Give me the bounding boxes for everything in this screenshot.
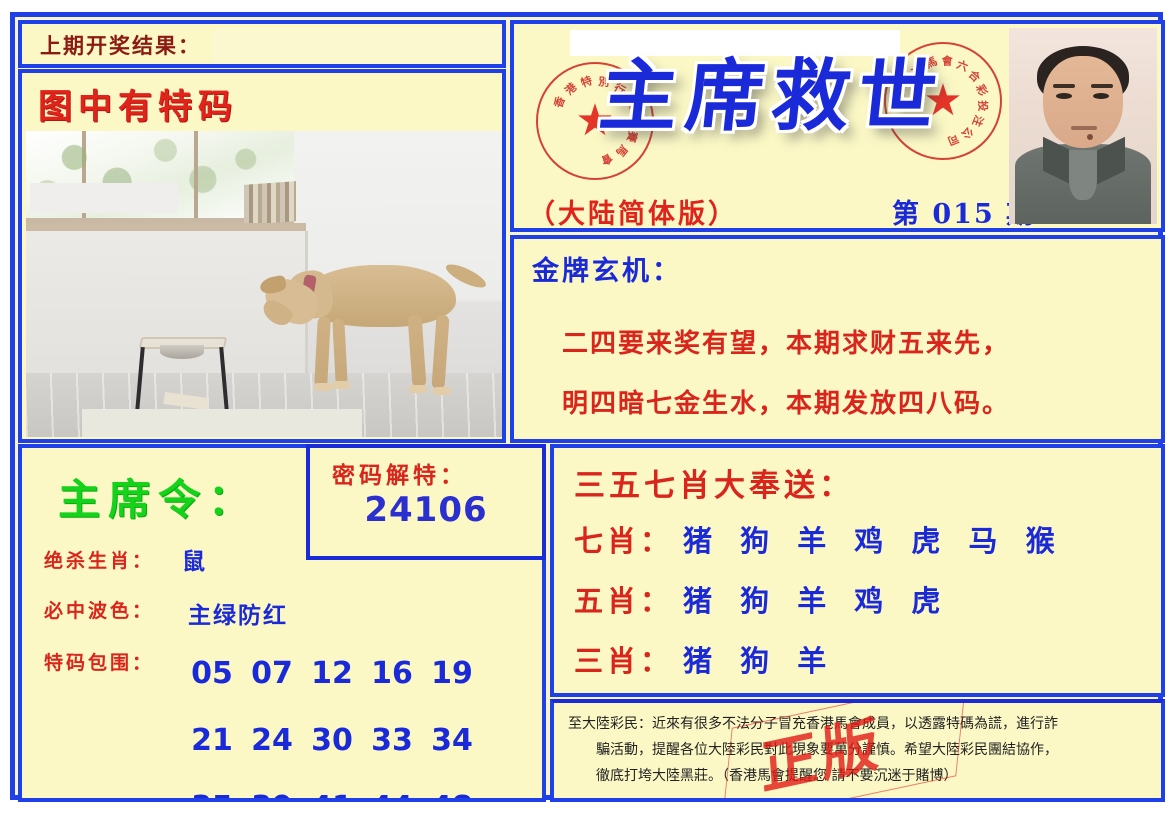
number-cell: 12: [302, 656, 362, 691]
bose-label: 必中波色：: [44, 596, 154, 623]
number-cell: 16: [362, 656, 422, 691]
xiao-row-value: 猪 狗 羊 鸡 虎 马 猴: [683, 524, 1064, 558]
xiao-row: 五肖：猪 狗 羊 鸡 虎: [574, 578, 949, 620]
mima-value: 24106: [310, 490, 542, 530]
number-cell: 33: [362, 723, 422, 758]
poster-root: 上期开奖结果： 图中有特码: [0, 0, 1169, 827]
xiao-row-value: 猪 狗 羊: [683, 644, 835, 678]
banner-subtitle: （大陆简体版）: [528, 192, 738, 231]
notice-text: 至大陸彩民：近來有很多不法分子冒充香港馬會成員，以透露特碼為謊，進行詐 騙活動，…: [568, 711, 1151, 789]
mima-jiete-panel: 密码解特： 24106: [306, 444, 546, 560]
number-cell: 07: [242, 656, 302, 691]
xiao-row-key: 七肖：: [574, 524, 673, 558]
jinpai-line-1: 二四要来奖有望，本期求财五来先，: [562, 323, 1010, 360]
number-cell: 30: [302, 723, 362, 758]
last-draw-label: 上期开奖结果：: [40, 30, 201, 60]
banner-panel: 香港特別行政區賽馬會 ★ 香港馬會六合彩投注公司 ★ 主席救世 （大陆简体版） …: [510, 20, 1165, 232]
number-cell: 39: [242, 790, 302, 802]
mao-portrait: [1009, 28, 1157, 224]
xiao-panel: 三五七肖大奉送： 七肖：猪 狗 羊 鸡 虎 马 猴 五肖：猪 狗 羊 鸡 虎 三…: [550, 444, 1165, 697]
dog: [258, 259, 490, 407]
books: [244, 181, 296, 225]
photo-overlay-bottom: [82, 409, 362, 437]
banner-title: 主席救世: [596, 58, 948, 136]
number-cell: 19: [422, 656, 482, 691]
temabaowei-label: 特码包围：: [44, 648, 154, 675]
xiao-row: 三肖：猪 狗 羊: [574, 638, 835, 680]
jinpai-label: 金牌玄机：: [532, 249, 682, 288]
notice-line-3: 徹底打垮大陸黑莊。（香港馬會提醒您 請不要沉迷于賭博）: [568, 763, 1151, 789]
jinpai-xuanji-panel: 金牌玄机： 二四要来奖有望，本期求财五来先， 明四暗七金生水，本期发放四八码。: [510, 235, 1165, 443]
shengxiao-label: 绝杀生肖：: [44, 546, 154, 573]
number-cell: 21: [182, 723, 242, 758]
number-cell: 35: [182, 790, 242, 802]
number-cell: 41: [302, 790, 362, 802]
xiao-row-value: 猪 狗 羊 鸡 虎: [683, 584, 949, 618]
bose-value: 主绿防红: [188, 596, 288, 630]
xiao-title: 三五七肖大奉送：: [574, 460, 854, 505]
last-draw-blank-area: [212, 28, 502, 66]
photo-title: 图中有特码: [38, 79, 238, 128]
outer-frame: 上期开奖结果： 图中有特码: [10, 12, 1163, 800]
mima-label: 密码解特：: [332, 456, 467, 490]
notice-line-1: 至大陸彩民：近來有很多不法分子冒充香港馬會成員，以透露特碼為謊，進行詐: [568, 711, 1151, 737]
xiao-row-key: 五肖：: [574, 584, 673, 618]
shengxiao-value: 鼠: [182, 542, 207, 576]
number-cell: 44: [362, 790, 422, 802]
number-cell: 34: [422, 723, 482, 758]
xiao-row-key: 三肖：: [574, 644, 673, 678]
number-grid: 050712161921243033343539414448: [182, 656, 482, 802]
last-draw-panel: 上期开奖结果：: [18, 20, 506, 68]
photo-panel: 图中有特码: [18, 69, 506, 443]
number-cell: 05: [182, 656, 242, 691]
number-cell: 48: [422, 790, 482, 802]
jinpai-line-2: 明四暗七金生水，本期发放四八码。: [562, 383, 1010, 420]
number-cell: 24: [242, 723, 302, 758]
zhuxiling-title: 主席令：: [58, 466, 258, 527]
stool-bowl-stand: [134, 337, 232, 417]
notice-panel: 至大陸彩民：近來有很多不法分子冒充香港馬會成員，以透露特碼為謊，進行詐 騙活動，…: [550, 699, 1165, 802]
photo-overlay-top: [30, 183, 178, 213]
notice-line-2: 騙活動，提醒各位大陸彩民對此現象要萬分謹慎。希望大陸彩民團結協作，: [568, 737, 1151, 763]
clue-photo: [26, 131, 502, 437]
xiao-row: 七肖：猪 狗 羊 鸡 虎 马 猴: [574, 518, 1064, 560]
